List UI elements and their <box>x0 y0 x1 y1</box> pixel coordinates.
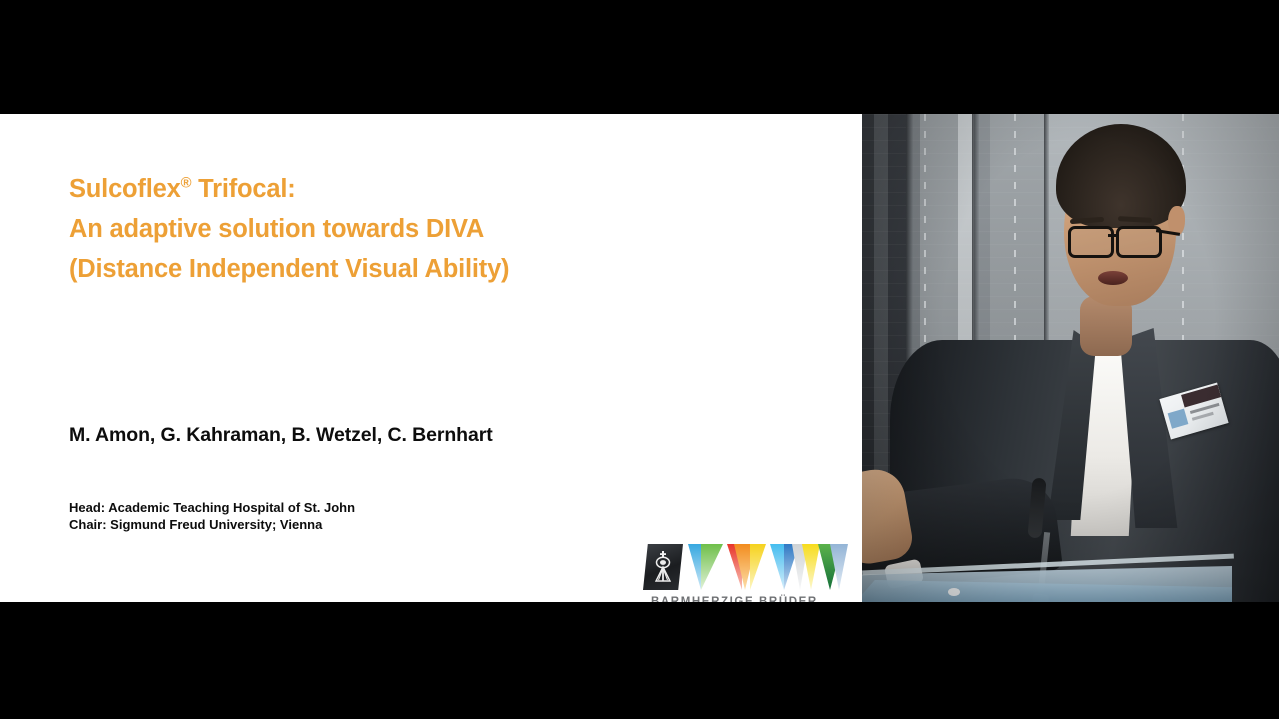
chevron-green <box>701 544 723 590</box>
bb-crest-icon <box>643 544 683 590</box>
presentation-slide: Sulcoflex® Trifocal: An adaptive solutio… <box>0 114 862 602</box>
chevron-yellow-a <box>750 544 766 590</box>
bb-chevron-marks <box>640 544 840 590</box>
slide-authors: M. Amon, G. Kahraman, B. Wetzel, C. Bern… <box>69 424 493 447</box>
affiliation-line-chair: Chair: Sigmund Freud University; Vienna <box>69 516 355 533</box>
speaker-photo: KE <box>862 114 1279 602</box>
slide-title-line-1-suffix: Trifocal: <box>191 175 295 203</box>
slide-title-line-1: Sulcoflex® Trifocal: <box>69 169 809 209</box>
chevron-yellow-b <box>802 544 820 590</box>
name-badge-line-2 <box>1192 412 1214 421</box>
content-band: Sulcoflex® Trifocal: An adaptive solutio… <box>0 114 1279 602</box>
slide-title-line-1-text: Sulcoflex <box>69 175 181 203</box>
bb-crest-svg <box>652 551 674 583</box>
eyeglasses-lens-left <box>1068 226 1114 258</box>
chevron-skyblue <box>770 544 784 590</box>
eyeglasses-bridge <box>1108 234 1118 237</box>
registered-trademark-icon: ® <box>181 176 192 192</box>
slide-title-line-3: (Distance Independent Visual Ability) <box>69 249 809 289</box>
slide-affiliation: Head: Academic Teaching Hospital of St. … <box>69 499 355 533</box>
acrylic-lectern-highlight <box>948 588 960 596</box>
letterbox-bottom <box>0 602 1279 719</box>
affiliation-line-head: Head: Academic Teaching Hospital of St. … <box>69 499 355 516</box>
slide-title: Sulcoflex® Trifocal: An adaptive solutio… <box>69 169 809 289</box>
chevron-blue-left <box>688 544 701 590</box>
letterbox-top <box>0 0 1279 114</box>
speaker-mouth <box>1098 271 1128 285</box>
slide-title-line-2: An adaptive solution towards DIVA <box>69 209 809 249</box>
video-frame: Sulcoflex® Trifocal: An adaptive solutio… <box>0 0 1279 719</box>
name-badge-photo <box>1168 409 1189 429</box>
